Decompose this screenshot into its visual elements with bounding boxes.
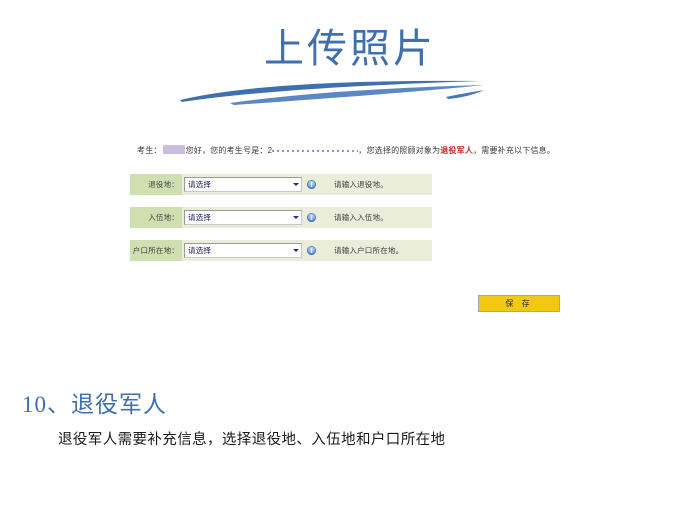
enlistment-place-select[interactable]: 请选择 bbox=[184, 210, 302, 225]
household-registration-select[interactable]: 请选择 bbox=[184, 243, 302, 258]
redacted-name bbox=[163, 145, 185, 154]
greeting-prefix: 考生： bbox=[137, 146, 162, 155]
greeting-after-name: 您好，您的考生号是： bbox=[186, 146, 268, 155]
field-hint-household-registration: 请输入户口所在地。 bbox=[316, 240, 432, 261]
greeting-suffix: ，需要补充以下信息。 bbox=[473, 146, 555, 155]
greeting-line: 考生：您好，您的考生号是：2，您选择的照顾对象为退役军人，需要补充以下信息。 bbox=[137, 144, 555, 157]
info-icon[interactable] bbox=[307, 213, 316, 222]
section-heading: 10、退役军人 bbox=[22, 390, 167, 420]
field-label-discharge-place: 退役地： bbox=[130, 174, 182, 195]
care-category-highlight: 退役军人 bbox=[440, 146, 473, 155]
chevron-down-icon bbox=[292, 214, 299, 221]
table-row: 入伍地： 请选择 请输入入伍地。 bbox=[130, 207, 432, 228]
field-control-enlistment-place: 请选择 bbox=[182, 207, 316, 228]
info-icon[interactable] bbox=[307, 246, 316, 255]
enlistment-place-select-value: 请选择 bbox=[188, 212, 211, 223]
chevron-down-icon bbox=[292, 181, 299, 188]
field-label-household-registration: 户口所在地： bbox=[130, 240, 182, 261]
veteran-info-form: 退役地： 请选择 请输入退役地。 入伍地： 请选择 请输入入伍地。 户口所在地：… bbox=[130, 174, 432, 273]
chevron-down-icon bbox=[292, 247, 299, 254]
field-control-household-registration: 请选择 bbox=[182, 240, 316, 261]
field-control-discharge-place: 请选择 bbox=[182, 174, 316, 195]
save-button[interactable]: 保 存 bbox=[478, 295, 560, 312]
page-title: 上传照片 bbox=[0, 26, 700, 72]
field-hint-discharge-place: 请输入退役地。 bbox=[316, 174, 432, 195]
table-row: 户口所在地： 请选择 请输入户口所在地。 bbox=[130, 240, 432, 261]
discharge-place-select-value: 请选择 bbox=[188, 179, 211, 190]
field-label-enlistment-place: 入伍地： bbox=[130, 207, 182, 228]
redacted-exam-number bbox=[272, 145, 358, 154]
greeting-middle: ，您选择的照顾对象为 bbox=[358, 146, 440, 155]
discharge-place-select[interactable]: 请选择 bbox=[184, 177, 302, 192]
field-hint-enlistment-place: 请输入入伍地。 bbox=[316, 207, 432, 228]
household-registration-select-value: 请选择 bbox=[188, 245, 211, 256]
info-icon[interactable] bbox=[307, 180, 316, 189]
table-row: 退役地： 请选择 请输入退役地。 bbox=[130, 174, 432, 195]
title-block: 上传照片 bbox=[0, 26, 700, 72]
title-swoosh-decoration bbox=[178, 78, 488, 110]
section-description: 退役军人需要补充信息，选择退役地、入伍地和户口所在地 bbox=[58, 428, 445, 452]
